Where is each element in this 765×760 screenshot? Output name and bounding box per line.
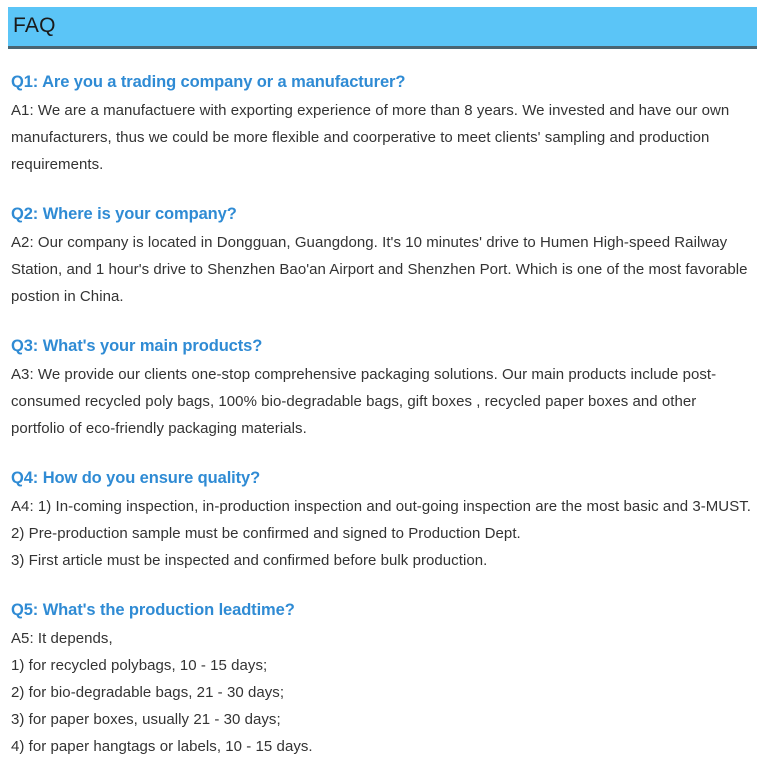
faq-item-3: Q3: What's your main products? A3: We pr… — [11, 334, 753, 442]
faq-item-5: Q5: What's the production leadtime? A5: … — [11, 598, 753, 760]
faq-answer-line: 2) Pre-production sample must be confirm… — [11, 520, 753, 547]
faq-answer-line: A4: 1) In-coming inspection, in-producti… — [11, 493, 753, 520]
faq-answer-2: A2: Our company is located in Dongguan, … — [11, 229, 753, 310]
faq-answer-line: 1) for recycled polybags, 10 - 15 days; — [11, 652, 753, 679]
faq-question-5: Q5: What's the production leadtime? — [11, 598, 753, 622]
faq-answer-line: 2) for bio-degradable bags, 21 - 30 days… — [11, 679, 753, 706]
faq-answer-line: 3) First article must be inspected and c… — [11, 547, 753, 574]
faq-page: FAQ Q1: Are you a trading company or a m… — [0, 0, 765, 748]
faq-question-4: Q4: How do you ensure quality? — [11, 466, 753, 490]
faq-banner: FAQ — [8, 7, 757, 49]
faq-answer-1: A1: We are a manufactuere with exporting… — [11, 97, 753, 178]
faq-question-1: Q1: Are you a trading company or a manuf… — [11, 70, 753, 94]
faq-item-4: Q4: How do you ensure quality? A4: 1) In… — [11, 466, 753, 574]
faq-answer-4: A4: 1) In-coming inspection, in-producti… — [11, 493, 753, 574]
faq-item-1: Q1: Are you a trading company or a manuf… — [11, 70, 753, 178]
faq-question-3: Q3: What's your main products? — [11, 334, 753, 358]
faq-list: Q1: Are you a trading company or a manuf… — [11, 70, 753, 760]
faq-banner-title: FAQ — [13, 13, 56, 39]
faq-question-2: Q2: Where is your company? — [11, 202, 753, 226]
faq-answer-line: 4) for paper hangtags or labels, 10 - 15… — [11, 733, 753, 760]
faq-answer-line: 3) for paper boxes, usually 21 - 30 days… — [11, 706, 753, 733]
faq-item-2: Q2: Where is your company? A2: Our compa… — [11, 202, 753, 310]
faq-answer-5: A5: It depends, 1) for recycled polybags… — [11, 625, 753, 760]
faq-answer-line: A5: It depends, — [11, 625, 753, 652]
faq-answer-3: A3: We provide our clients one-stop comp… — [11, 361, 753, 442]
